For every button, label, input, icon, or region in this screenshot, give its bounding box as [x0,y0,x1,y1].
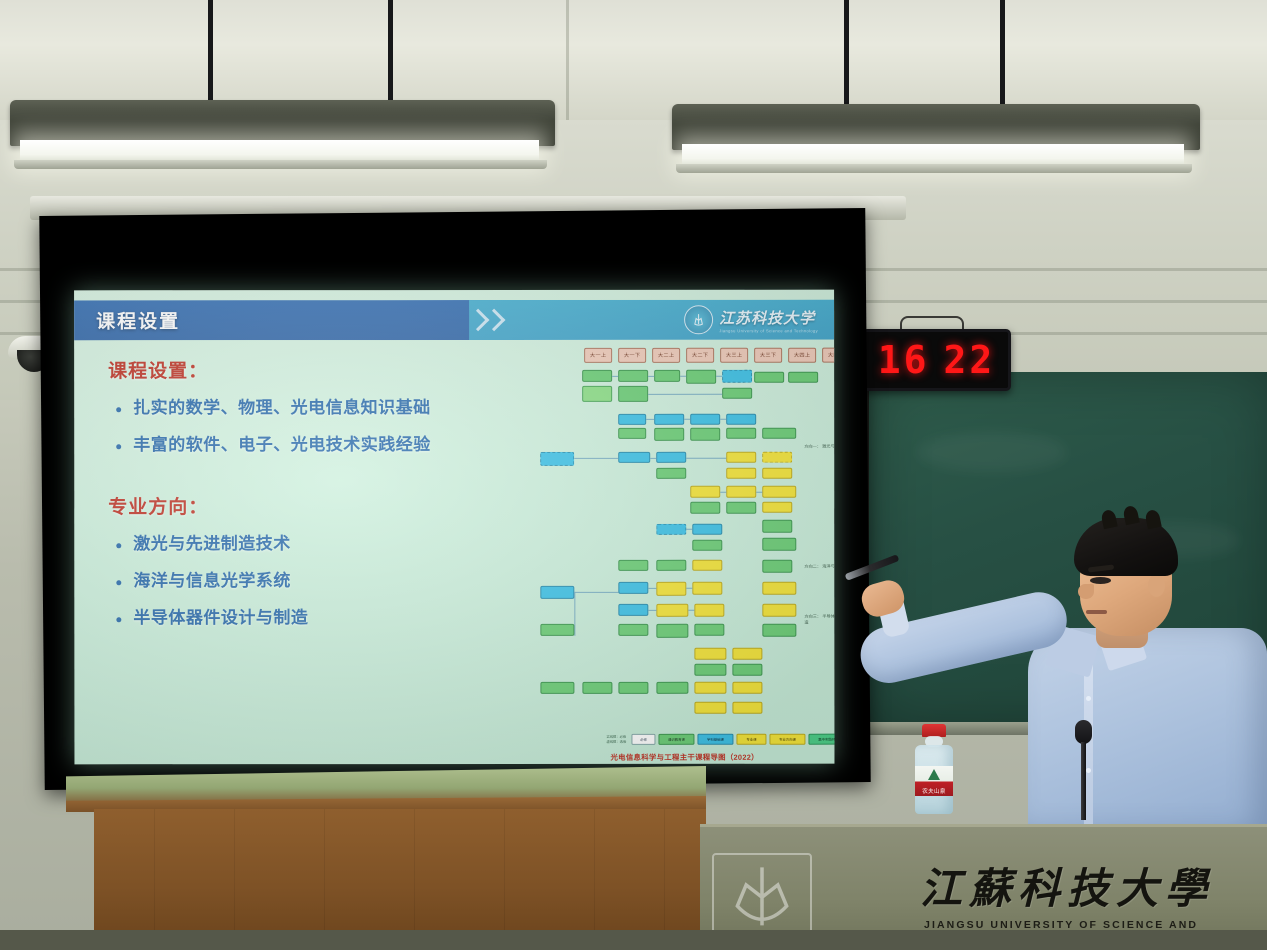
term-header: 大二下 [686,348,714,363]
flow-link [648,376,654,377]
term-header: 大一下 [618,348,646,363]
lamp-rod [1000,0,1005,104]
flow-link [686,529,692,530]
course-node [618,560,648,571]
clock-hours: 16 [878,341,930,379]
flow-link [756,492,762,493]
flow-link [716,376,722,377]
course-node [692,582,722,595]
course-node [722,388,752,399]
slide-title: 课程设置 [96,307,180,334]
digital-clock: 16 22 [862,329,1011,391]
laser-pointer-icon [845,554,900,581]
flow-link [680,376,686,377]
course-node [694,624,724,636]
course-node [762,582,796,595]
course-node [722,370,752,383]
flow-link [686,588,692,589]
bullet-text: 丰富的软件、电子、光电技术实践经验 [133,434,431,456]
presenter-ear [1148,574,1165,597]
course-node [654,428,684,441]
direction-annotation: 方向三： 半导体器件设计与制造 [804,614,834,626]
course-node [540,624,574,636]
bullet-dot-icon [116,617,121,622]
flow-link [646,419,654,420]
flow-link [720,492,726,493]
course-node [656,452,686,463]
course-node [656,582,686,596]
bullet-text: 扎实的数学、物理、光电信息知识基础 [133,397,431,419]
list-item: 丰富的软件、电子、光电技术实践经验 [116,434,438,456]
bullet-dot-icon [116,543,121,548]
course-node [726,468,756,479]
flow-link [684,419,690,420]
direction-annotation: 方向二： 海洋与信息光学系统 [804,564,834,570]
flow-link [686,458,726,459]
slide-logo-cn: 江苏科技大学 [719,307,818,328]
fluorescent-lamp [672,104,1200,174]
course-node [656,560,686,571]
term-header: 大四上 [788,348,816,363]
presenter-nose [1078,584,1094,599]
course-node [654,370,680,382]
presenter-eye [1090,577,1111,584]
bullet-dot-icon [116,445,121,450]
course-node [694,648,726,660]
course-node [618,682,648,694]
slide-body: 课程设置： 扎实的数学、物理、光电信息知识基础 丰富的软件、电子、光电技术实践经… [108,356,438,645]
course-node [654,414,684,425]
course-node [582,386,612,402]
course-node [694,682,726,694]
microphone [1072,720,1094,820]
course-node [618,370,648,382]
spacer [108,472,438,492]
presentation-slide[interactable]: 课程设置 江苏科技大学 Jiangsu University of Scienc… [74,290,834,765]
flow-link [650,458,656,459]
course-node [690,414,720,425]
flow-link [720,419,726,420]
course-node [762,624,796,637]
course-node [540,452,574,466]
flow-link [648,610,656,611]
course-node [762,520,792,533]
mic-head [1075,720,1092,744]
course-node [762,560,792,573]
course-node [762,538,796,551]
water-bottle: 农夫山泉 [913,724,955,814]
flow-link [574,458,618,459]
course-node [656,682,688,694]
ceiling-seam [566,0,569,128]
legend-swatch: 集中实践环节 [808,734,834,745]
lamp-rod [388,0,393,100]
course-node [726,452,756,463]
lecture-hall-photo: 16 22 课程设置 江苏科技大学 [0,0,1267,950]
course-node [726,414,756,425]
course-node [762,604,796,617]
course-node [692,524,722,535]
list-item: 扎实的数学、物理、光电信息知识基础 [116,397,438,419]
list-item: 海洋与信息光学系统 [116,570,438,592]
lamp-rod [844,0,849,104]
course-node [656,468,686,479]
flowchart-legend: 实线框：必修 虚线框：选修 必修 通识教育课 学科基础课 专业课 专业方向课 集… [606,734,834,745]
legend-swatch: 通识教育课 [658,734,694,745]
course-node [618,624,648,636]
course-node [618,582,648,594]
lecture-desk [66,766,706,950]
course-node [726,428,756,439]
course-node [618,428,646,439]
flowchart-caption: 光电信息科学与工程主干课程导图（2022） [610,752,758,763]
course-node [726,486,756,498]
slide-logo: 江苏科技大学 Jiangsu University of Science and… [684,305,818,334]
chalk-smudge [917,432,1067,472]
course-node [618,604,648,616]
course-node [690,486,720,498]
course-node [762,428,796,439]
course-node [582,370,612,382]
course-node [732,682,762,694]
desk-front-panel [94,809,706,950]
list-item: 半导体器件设计与制造 [116,607,438,629]
legend-swatch: 专业课 [736,734,766,745]
mic-stem [1081,742,1086,820]
course-node [726,502,756,514]
rostrum-name-cn: 江蘇科技大學 [920,855,1214,916]
course-node [690,502,720,514]
course-node [788,372,818,383]
legend-swatch: 学科基础课 [697,734,733,745]
term-header: 大一上 [584,348,612,363]
course-node [618,386,648,402]
flow-link [688,610,694,611]
flow-link [648,588,656,589]
clock-minutes: 22 [944,341,996,379]
course-node [732,664,762,676]
bullet-text: 半导体器件设计与制造 [133,607,308,628]
flow-link [574,592,575,636]
legend-swatch: 专业方向课 [769,734,805,745]
bottle-logo-icon [928,769,940,780]
term-header: 大三下 [754,348,782,363]
section-heading-directions: 专业方向： [108,492,438,519]
bottle-brand: 农夫山泉 [917,787,951,795]
university-seal-icon [684,305,713,334]
course-node [656,524,686,535]
fluorescent-lamp [10,100,555,170]
course-node [540,682,574,694]
course-node [694,702,726,714]
course-node [762,468,792,479]
lamp-rod [208,0,213,100]
course-node [754,372,784,383]
course-node [762,502,792,513]
course-node [692,560,722,571]
bullet-dot-icon [116,580,121,585]
course-node [686,370,716,384]
legend-note: 实线框：必修 虚线框：选修 [606,735,628,743]
slide-logo-en: Jiangsu University of Science and Techno… [719,328,818,333]
course-node [582,682,612,694]
flow-link [612,376,618,377]
list-item: 激光与先进制造技术 [116,533,438,555]
section-heading-courses: 课程设置： [108,356,438,383]
bullet-text: 激光与先进制造技术 [133,533,291,554]
lamp-lip [14,160,547,169]
course-node [656,604,688,617]
course-node [618,414,646,425]
double-chevron-icon [486,300,502,340]
presenter-mouth [1086,610,1107,614]
course-node [732,648,762,660]
course-node [694,664,726,676]
term-header: 大三上 [720,348,748,363]
course-node [692,540,722,551]
course-node [732,702,762,714]
lamp-lip [676,164,1192,173]
flow-link [648,394,722,395]
curriculum-flowchart: 大一上 大一下 大二上 大二下 大三上 大三下 大四上 大四下 [444,348,824,748]
term-header: 大二上 [652,348,680,363]
course-node [618,452,650,463]
flow-link [574,592,618,593]
floor [0,930,1267,950]
projection-screen[interactable]: 课程设置 江苏科技大学 Jiangsu University of Scienc… [39,208,870,790]
legend-swatch: 必修 [631,734,655,745]
course-node [762,452,792,463]
course-node [690,428,720,441]
term-header: 大四下 [822,348,834,363]
course-node [694,604,724,617]
bullet-dot-icon [116,407,121,412]
slide-header: 课程设置 江苏科技大学 Jiangsu University of Scienc… [74,300,834,341]
course-node [540,586,574,599]
bullet-text: 海洋与信息光学系统 [133,570,291,591]
direction-annotation: 方向一： 激光与先进制造技术 [804,444,834,450]
course-node [656,624,688,638]
course-node [762,486,796,498]
